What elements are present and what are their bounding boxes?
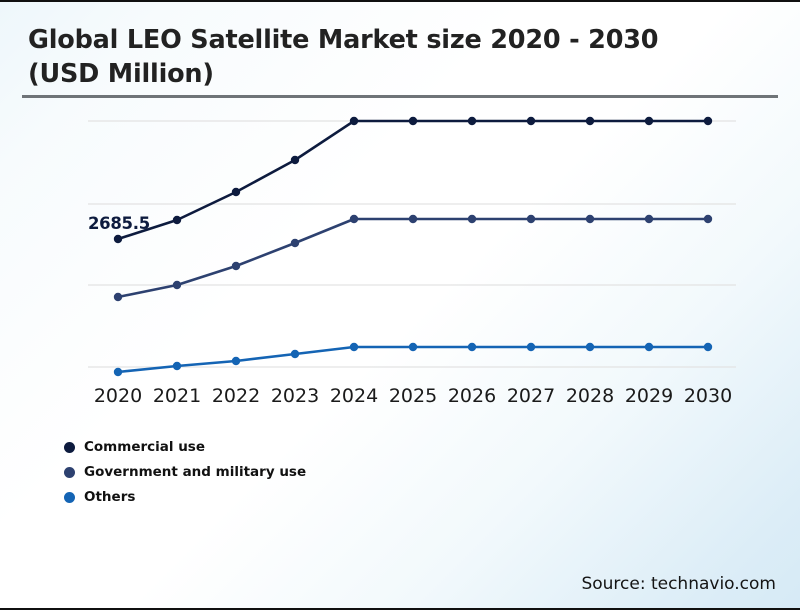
data-point-others-2020[interactable]: [114, 368, 122, 376]
legend-label: Government and military use: [84, 464, 306, 480]
data-point-government-and-military-use-2023[interactable]: [291, 239, 299, 247]
chart-page: Global LEO Satellite Market size 2020 - …: [0, 0, 800, 610]
data-point-government-and-military-use-2030[interactable]: [704, 215, 712, 223]
data-point-others-2029[interactable]: [645, 343, 653, 351]
data-point-commercial-use-2022[interactable]: [232, 188, 240, 196]
gridlines-group: [88, 121, 736, 367]
legend-item-government-and-military-use[interactable]: Government and military use: [64, 460, 306, 484]
data-label-2685-5: 2685.5: [88, 214, 150, 233]
legend-dot-government-and-military-use: [64, 467, 75, 478]
data-point-others-2030[interactable]: [704, 343, 712, 351]
data-point-commercial-use-2029[interactable]: [645, 117, 653, 125]
chart-legend: Commercial useGovernment and military us…: [64, 435, 306, 510]
data-point-government-and-military-use-2022[interactable]: [232, 262, 240, 270]
legend-dot-others: [64, 492, 75, 503]
legend-dot-commercial-use: [64, 442, 75, 453]
data-point-government-and-military-use-2029[interactable]: [645, 215, 653, 223]
data-point-others-2027[interactable]: [527, 343, 535, 351]
plot-area: [0, 2, 800, 610]
data-point-others-2028[interactable]: [586, 343, 594, 351]
legend-label: Commercial use: [84, 439, 205, 455]
data-point-commercial-use-2021[interactable]: [173, 216, 181, 224]
data-point-commercial-use-2025[interactable]: [409, 117, 417, 125]
data-point-others-2023[interactable]: [291, 350, 299, 358]
data-point-government-and-military-use-2021[interactable]: [173, 281, 181, 289]
data-point-government-and-military-use-2027[interactable]: [527, 215, 535, 223]
data-point-others-2024[interactable]: [350, 343, 358, 351]
x-axis-labels: 2020202120222023202420252026202720282029…: [0, 385, 800, 411]
data-point-commercial-use-2023[interactable]: [291, 156, 299, 164]
data-point-others-2026[interactable]: [468, 343, 476, 351]
data-point-commercial-use-2026[interactable]: [468, 117, 476, 125]
data-point-others-2022[interactable]: [232, 357, 240, 365]
data-point-commercial-use-2027[interactable]: [527, 117, 535, 125]
data-point-government-and-military-use-2020[interactable]: [114, 293, 122, 301]
data-point-government-and-military-use-2024[interactable]: [350, 215, 358, 223]
data-point-government-and-military-use-2028[interactable]: [586, 215, 594, 223]
data-point-commercial-use-2024[interactable]: [350, 117, 358, 125]
legend-item-commercial-use[interactable]: Commercial use: [64, 435, 306, 459]
data-point-commercial-use-2028[interactable]: [586, 117, 594, 125]
line-chart-svg: [0, 2, 800, 610]
data-point-others-2025[interactable]: [409, 343, 417, 351]
data-point-commercial-use-2020[interactable]: [114, 235, 122, 243]
data-point-commercial-use-2030[interactable]: [704, 117, 712, 125]
data-point-government-and-military-use-2025[interactable]: [409, 215, 417, 223]
data-point-others-2021[interactable]: [173, 362, 181, 370]
legend-item-others[interactable]: Others: [64, 485, 306, 509]
x-axis-tick-2030: 2030: [673, 385, 743, 407]
source-note: Source: technavio.com: [581, 574, 776, 594]
legend-label: Others: [84, 489, 135, 505]
data-point-government-and-military-use-2026[interactable]: [468, 215, 476, 223]
series-group: [114, 117, 712, 376]
